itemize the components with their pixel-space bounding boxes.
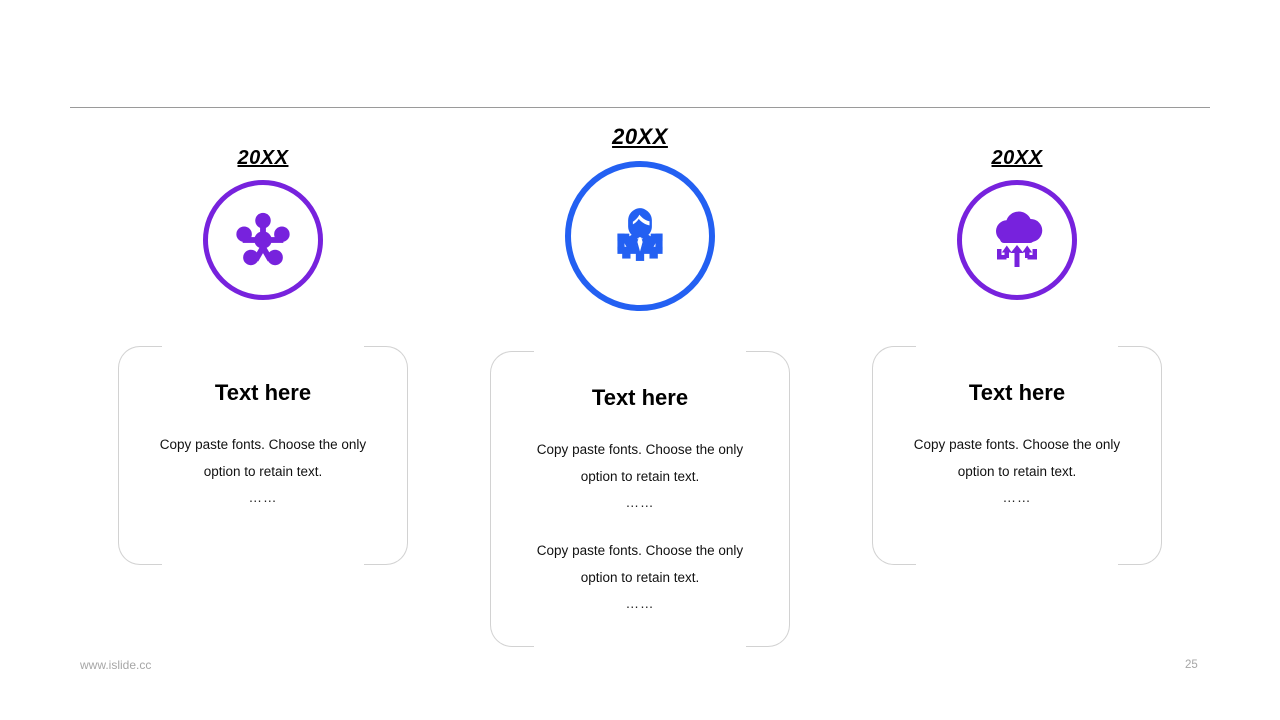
text-card-2: Text here Copy paste fonts. Choose the o… [490, 351, 790, 647]
cloud-upload-icon [985, 211, 1049, 269]
card-paragraph-text: Copy paste fonts. Choose the only option… [537, 442, 743, 483]
card-ellipsis: …… [530, 591, 750, 617]
text-card-1: Text here Copy paste fonts. Choose the o… [118, 346, 408, 565]
card-paragraph-3-1: Copy paste fonts. Choose the only option… [900, 432, 1134, 511]
card-paragraph-1-1: Copy paste fonts. Choose the only option… [146, 432, 380, 511]
person-gear-icon [602, 198, 678, 274]
card-title-3: Text here [900, 380, 1134, 406]
network-hub-icon [232, 209, 294, 271]
card-ellipsis: …… [912, 485, 1122, 511]
icon-circle-1[interactable] [203, 180, 323, 300]
column-1: 20XX [113, 148, 413, 565]
footer-page-number: 25 [1185, 659, 1198, 671]
card-paragraph-2-1: Copy paste fonts. Choose the only option… [518, 437, 762, 516]
text-card-3: Text here Copy paste fonts. Choose the o… [872, 346, 1162, 565]
year-label-3: 20XX [992, 148, 1043, 168]
card-ellipsis: …… [530, 490, 750, 516]
card-ellipsis: …… [158, 485, 368, 511]
column-3: 20XX [867, 148, 1167, 565]
icon-circle-2[interactable] [565, 161, 715, 311]
column-2: 20XX [490, 126, 790, 647]
slide-canvas: 20XX [0, 0, 1280, 720]
year-label-2: 20XX [612, 126, 668, 148]
card-paragraph-text: Copy paste fonts. Choose the only option… [160, 437, 366, 478]
card-paragraph-2-2: Copy paste fonts. Choose the only option… [518, 538, 762, 617]
card-title-1: Text here [146, 380, 380, 406]
year-label-1: 20XX [238, 148, 289, 168]
columns-container: 20XX [0, 0, 1280, 720]
footer-website-url[interactable]: www.islide.cc [80, 658, 151, 672]
card-paragraph-text: Copy paste fonts. Choose the only option… [914, 437, 1120, 478]
card-paragraph-text: Copy paste fonts. Choose the only option… [537, 543, 743, 584]
icon-circle-3[interactable] [957, 180, 1077, 300]
card-title-2: Text here [518, 385, 762, 411]
